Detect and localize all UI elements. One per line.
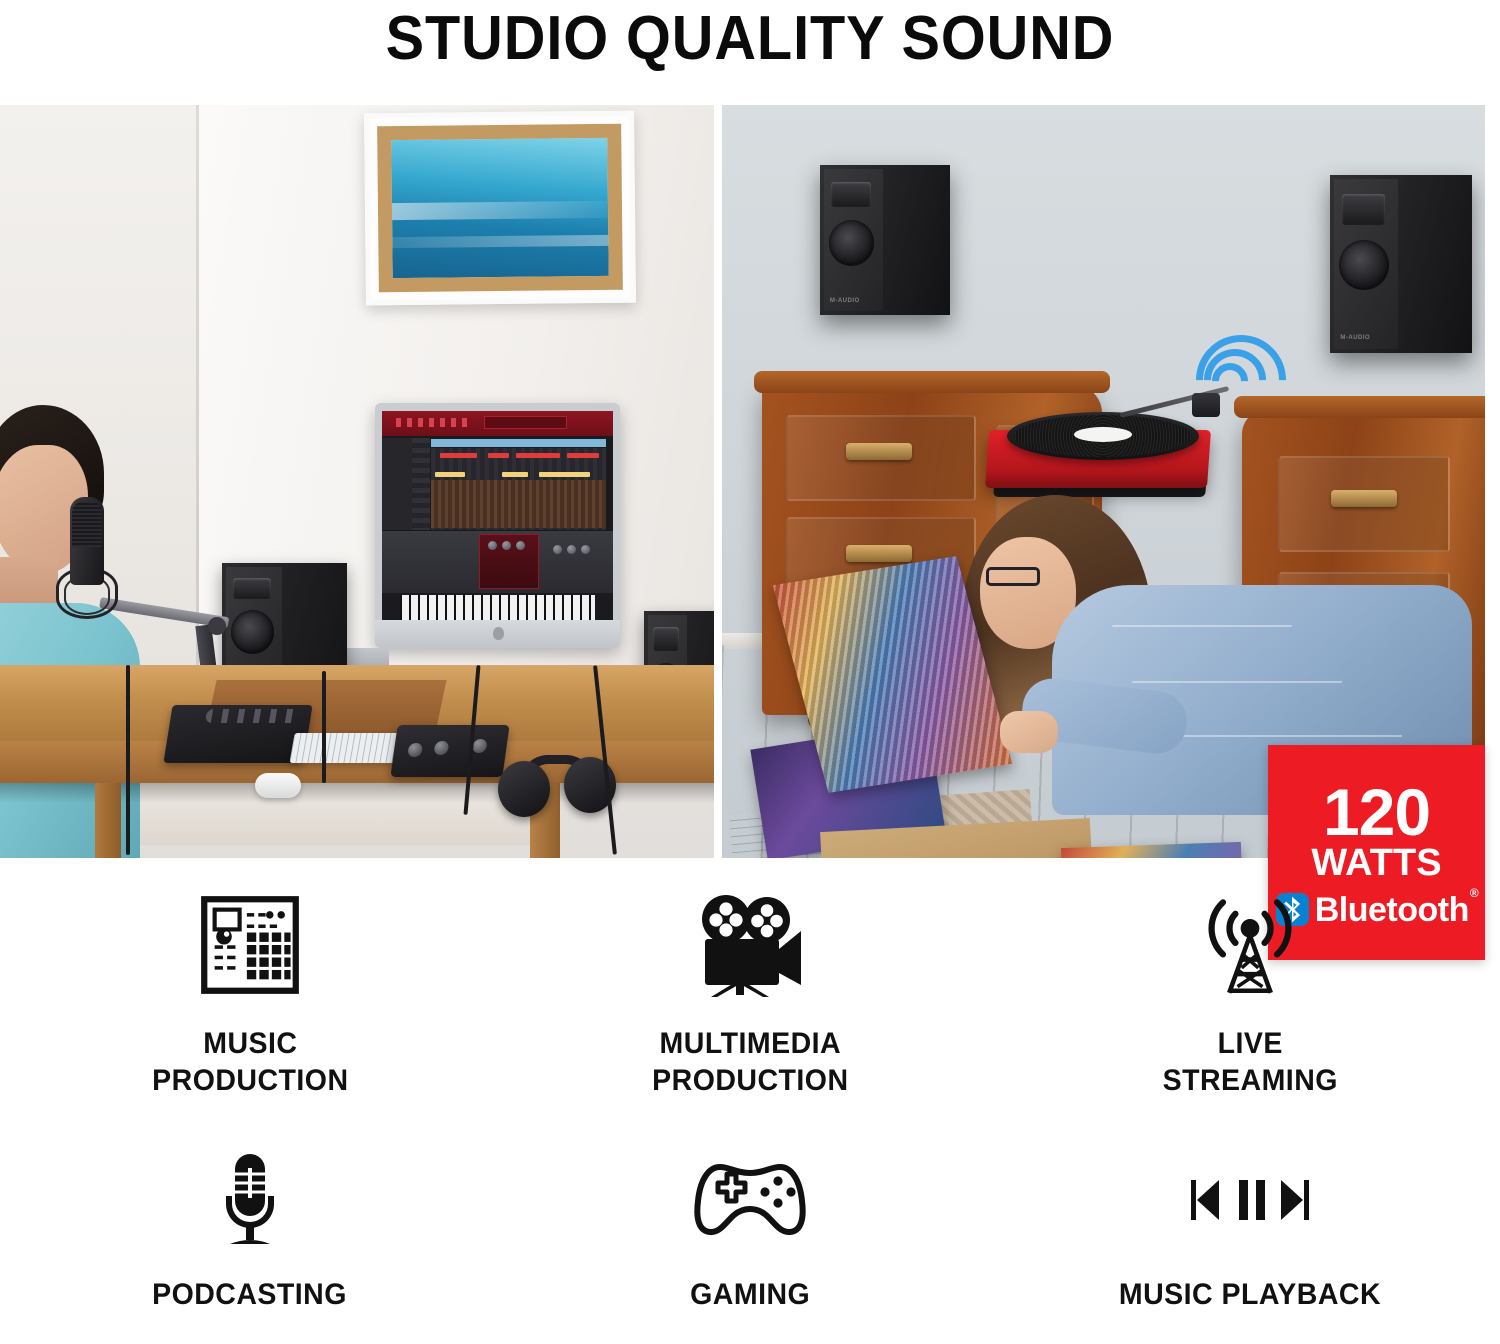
record-label (1074, 427, 1132, 442)
feature-label: GAMING (690, 1277, 810, 1314)
cable (126, 665, 130, 855)
monitor-tweeter (233, 578, 271, 600)
painting-canvas (377, 124, 623, 293)
broadcast-tower-icon (1198, 886, 1302, 1004)
daw-timeline-ruler (431, 439, 607, 446)
bluetooth-speaker-right: M-AUDIO (1330, 175, 1472, 353)
product-feature-image: STUDIO QUALITY SOUND (0, 0, 1500, 1344)
gamepad-icon (692, 1145, 808, 1255)
eyeglasses (986, 567, 1040, 586)
playback-transport-icon (1189, 1145, 1311, 1255)
feature-label: LIVE STREAMING (1162, 1026, 1337, 1099)
studio-headphones (498, 755, 620, 819)
monitor-brand-label: M-AUDIO (1340, 335, 1370, 341)
monitor-brand-label: M-AUDIO (830, 298, 860, 304)
imac-computer (375, 403, 620, 648)
framed-seascape-painting (364, 111, 636, 306)
daw-toolbar-buttons (396, 418, 470, 426)
drawer-handle (846, 443, 912, 460)
monitor-woofer (231, 610, 275, 654)
daw-screen (382, 411, 613, 620)
daw-piano-roll (431, 480, 607, 528)
page-title: STUDIO QUALITY SOUND (53, 0, 1448, 78)
feature-label: MULTIMEDIA PRODUCTION (652, 1026, 848, 1099)
drawer-handle (846, 545, 912, 562)
monitor-baffle: M-AUDIO (824, 169, 883, 311)
midi-controller-knobs (205, 709, 303, 723)
mic-boom-joint (208, 617, 226, 635)
microphone-icon (202, 1145, 298, 1255)
monitor-baffle: M-AUDIO (1334, 179, 1398, 349)
daw-transport-panel (484, 416, 567, 429)
feature-label-line1: MULTIMEDIA (652, 1026, 848, 1063)
feature-podcasting: PODCASTING (0, 1145, 500, 1314)
feature-music-production: MUSIC PRODUCTION (0, 886, 500, 1099)
home-studio-desk-photo: M-AUDIO M-AUDIO (0, 105, 714, 858)
feature-row-1: MUSIC PRODUCTION (0, 886, 1500, 1099)
painting-wave-highlight-2 (392, 234, 608, 247)
apple-logo-icon (493, 627, 504, 640)
feature-multimedia-production: MULTIMEDIA PRODUCTION (500, 886, 1000, 1099)
painting-wave-highlight (392, 201, 608, 220)
drawer-handle (1331, 490, 1397, 507)
feature-gaming: GAMING (500, 1145, 1000, 1314)
monitor-tweeter (831, 182, 871, 208)
bluetooth-speaker-left: M-AUDIO (820, 165, 950, 315)
feature-music-playback: MUSIC PLAYBACK (1000, 1145, 1500, 1314)
feature-label-line2: STREAMING (1162, 1063, 1337, 1100)
cable (322, 671, 326, 783)
feature-label-line1: MUSIC PLAYBACK (1119, 1277, 1381, 1314)
feature-grid: MUSIC PRODUCTION (0, 886, 1500, 1314)
desk-leg-left (95, 783, 121, 858)
daw-virtual-keyboard (400, 595, 594, 620)
feature-label-line1: PODCASTING (153, 1277, 348, 1314)
feature-label: MUSIC PLAYBACK (1119, 1277, 1381, 1314)
woman-hand (1000, 711, 1058, 753)
drum-pad-controller-icon (198, 886, 302, 1004)
photo-strip: M-AUDIO M-AUDIO (0, 105, 1500, 858)
feature-label-line1: LIVE (1162, 1026, 1337, 1063)
watts-label: WATTS (1311, 844, 1441, 882)
daw-track-list (412, 438, 430, 530)
feature-label: MUSIC PRODUCTION (152, 1026, 348, 1099)
feature-live-streaming: LIVE STREAMING (1000, 886, 1500, 1099)
headphone-earcup-left (498, 761, 550, 817)
imac-chin (375, 620, 620, 648)
feature-row-2: PODCASTING GAMING (0, 1145, 1500, 1314)
feature-label-line1: MUSIC (152, 1026, 348, 1063)
monitor-tweeter (1342, 194, 1385, 225)
feature-label-line2: PRODUCTION (652, 1063, 848, 1100)
audio-interface (390, 725, 509, 777)
computer-mouse (255, 773, 301, 798)
monitor-tweeter (653, 627, 679, 651)
movie-camera-icon (691, 886, 809, 1004)
microphone-grille (72, 501, 102, 547)
feature-label: PODCASTING (153, 1277, 348, 1314)
watts-value: 120 (1323, 782, 1430, 843)
feature-label-line1: GAMING (690, 1277, 810, 1314)
dresser-top (754, 371, 1110, 393)
feature-label-line2: PRODUCTION (152, 1063, 348, 1100)
monitor-woofer (1339, 240, 1389, 290)
monitor-woofer (829, 220, 875, 266)
